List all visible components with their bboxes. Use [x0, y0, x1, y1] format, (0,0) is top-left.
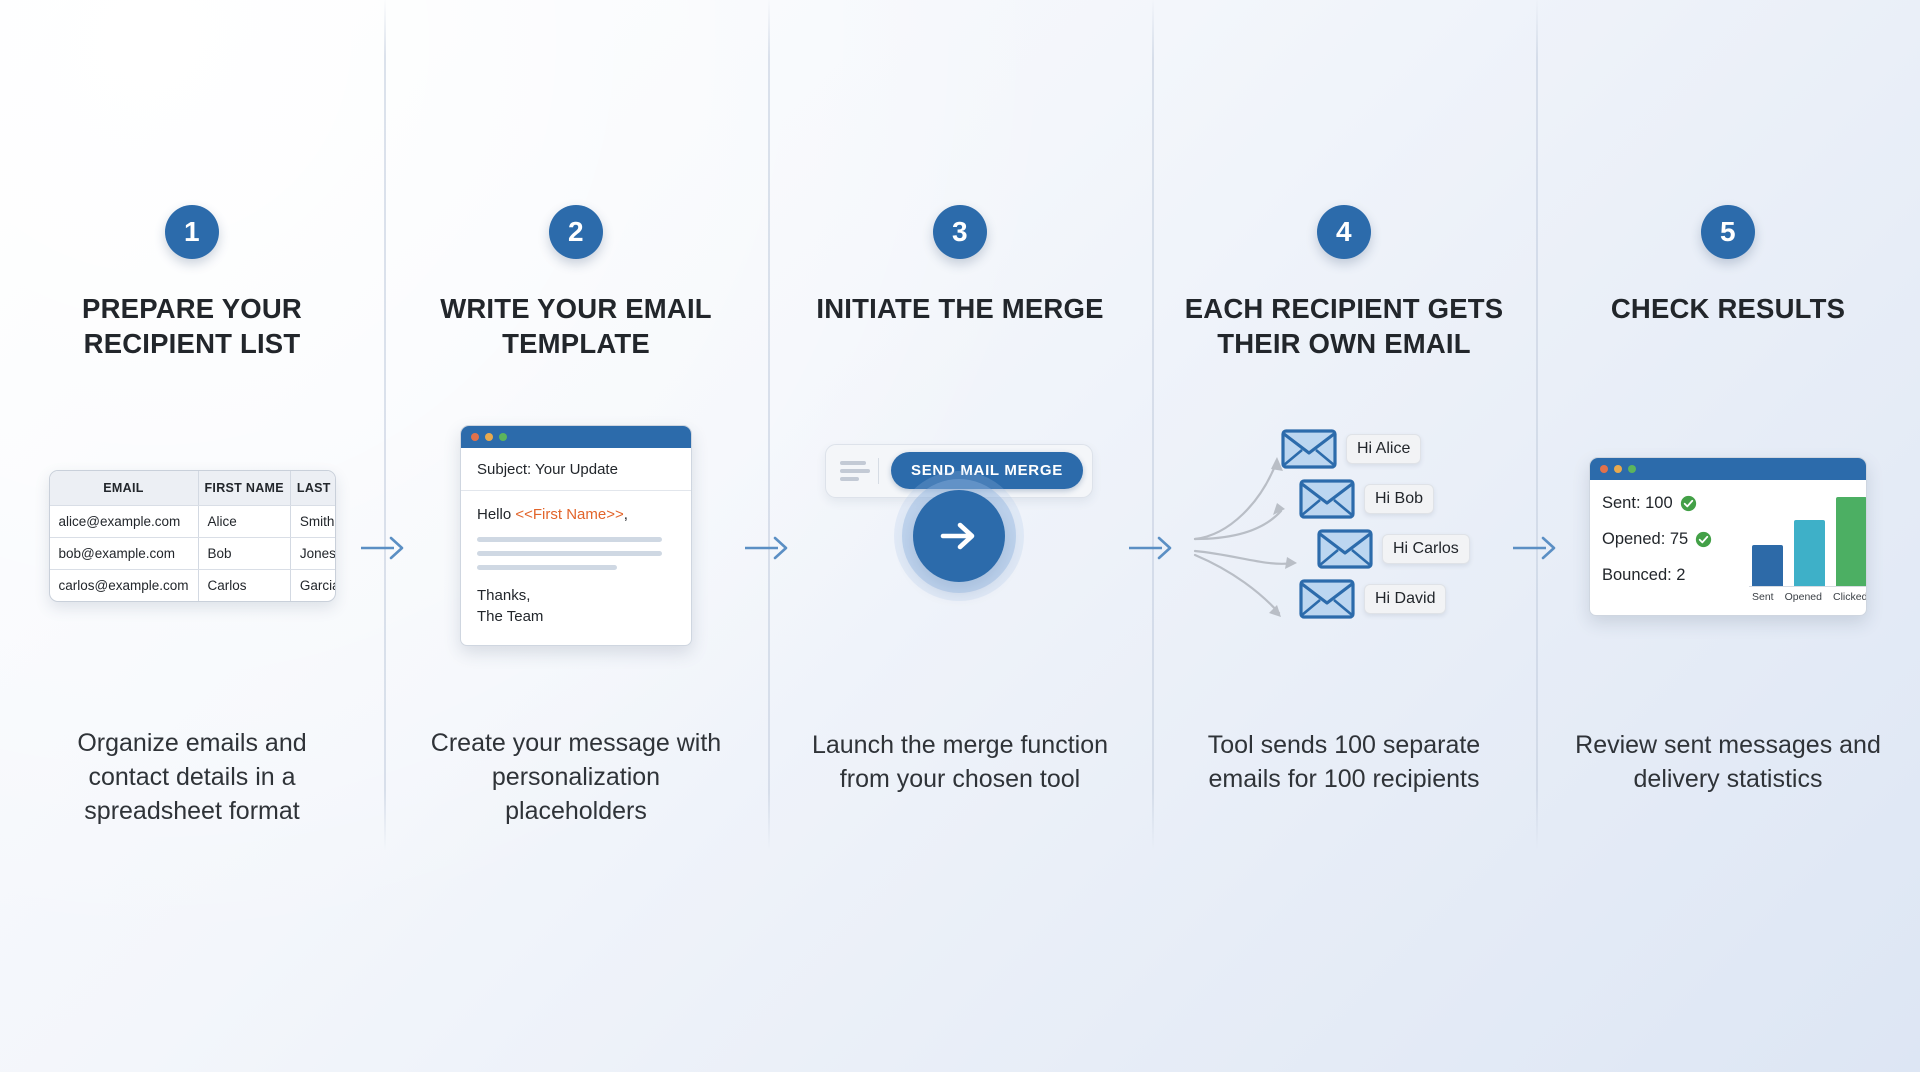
step-graphic-1: EMAIL FIRST NAME LAST NAME alice@example…	[0, 367, 384, 726]
step-badge-3: 3	[933, 205, 987, 259]
envelope-icon	[1299, 579, 1355, 619]
bar-clicked	[1836, 497, 1867, 586]
recipient-item: Hi David	[1299, 579, 1446, 619]
tick-label-opened: Opened	[1785, 591, 1822, 603]
step-caption-1: Organize emails and contact details in a…	[37, 726, 347, 828]
greeting-prefix: Hello	[477, 506, 515, 523]
step-heading-4: EACH RECIPIENT GETS THEIR OWN EMAIL	[1179, 291, 1509, 367]
cell-email: carlos@example.com	[50, 569, 199, 601]
launch-merge-button[interactable]	[913, 490, 1005, 582]
window-titlebar	[461, 426, 691, 448]
signoff-line-1: Thanks,	[477, 586, 675, 606]
step-column-4: 4 EACH RECIPIENT GETS THEIR OWN EMAIL	[1152, 0, 1536, 850]
column-header-last-name: LAST NAME	[290, 471, 335, 506]
cell-last-name: Jones	[290, 537, 335, 569]
body-placeholder-line	[477, 551, 662, 556]
step-heading-1: PREPARE YOUR RECIPIENT LIST	[27, 291, 357, 367]
step-caption-4: Tool sends 100 separate emails for 100 r…	[1189, 728, 1499, 828]
table-row: bob@example.com Bob Jones	[50, 537, 336, 569]
envelope-icon	[1281, 429, 1337, 469]
table-header-row: EMAIL FIRST NAME LAST NAME	[50, 471, 336, 506]
cell-last-name: Garcia	[290, 569, 335, 601]
step-heading-2: WRITE YOUR EMAIL TEMPLATE	[411, 291, 741, 367]
cell-last-name: Smith	[290, 505, 335, 537]
recipient-item: Hi Bob	[1299, 479, 1434, 519]
step-column-5: 5 CHECK RESULTS Sent: 100	[1536, 0, 1920, 850]
recipient-spreadsheet: EMAIL FIRST NAME LAST NAME alice@example…	[49, 470, 336, 602]
body-placeholder-line	[477, 565, 617, 570]
fanout-diagram: Hi Alice Hi Bob	[1199, 429, 1489, 644]
step-graphic-5: Sent: 100 Opened: 75	[1536, 367, 1920, 728]
step-caption-2: Create your message with personalization…	[421, 726, 731, 828]
close-dot-icon	[471, 433, 479, 441]
maximize-dot-icon	[1628, 465, 1636, 473]
email-body: Hello <<First Name>>, Thanks, The Team	[461, 491, 691, 645]
email-template-window: Subject: Your Update Hello <<First Name>…	[460, 425, 692, 646]
connector-arrow-3-to-4	[1129, 535, 1175, 561]
minimize-dot-icon	[1614, 465, 1622, 473]
recipient-bubble: Hi Bob	[1364, 484, 1434, 514]
tick-label-sent: Sent	[1752, 591, 1774, 603]
stat-label: Sent: 100	[1602, 494, 1673, 513]
step-heading-5: CHECK RESULTS	[1611, 291, 1845, 367]
toolbar-divider	[878, 458, 879, 484]
greeting-suffix: ,	[624, 506, 628, 523]
merge-token: <<First Name>>	[515, 506, 623, 523]
recipient-item: Hi Alice	[1281, 429, 1421, 469]
cell-email: bob@example.com	[50, 537, 199, 569]
stat-row-sent: Sent: 100	[1602, 494, 1724, 513]
signoff-line-2: The Team	[477, 607, 675, 627]
step-column-2: 2 WRITE YOUR EMAIL TEMPLATE Subject: You…	[384, 0, 768, 850]
minimize-dot-icon	[485, 433, 493, 441]
delivery-bar-chart: Sent Opened Clicked	[1744, 494, 1867, 603]
step-heading-3: INITIATE THE MERGE	[816, 291, 1103, 367]
stat-label: Bounced: 2	[1602, 566, 1685, 585]
send-mail-merge-button[interactable]: SEND MAIL MERGE	[891, 452, 1083, 489]
step-column-3: 3 INITIATE THE MERGE SEND MAIL MERGE Lau…	[768, 0, 1152, 850]
email-subject-line: Subject: Your Update	[461, 448, 691, 491]
chart-tick-labels: Sent Opened Clicked	[1748, 587, 1867, 603]
step-graphic-3: SEND MAIL MERGE	[768, 367, 1152, 728]
cell-first-name: Alice	[198, 505, 290, 537]
results-stats-list: Sent: 100 Opened: 75	[1602, 494, 1724, 603]
window-titlebar	[1590, 458, 1866, 480]
chart-bars	[1748, 494, 1867, 586]
step-badge-1: 1	[165, 205, 219, 259]
step-caption-5: Review sent messages and delivery statis…	[1573, 728, 1883, 828]
connector-arrow-1-to-2	[361, 535, 407, 561]
recipient-bubble: Hi Alice	[1346, 434, 1421, 464]
results-body: Sent: 100 Opened: 75	[1590, 480, 1866, 615]
mail-merge-infographic: 1 PREPARE YOUR RECIPIENT LIST EMAIL FIRS…	[0, 0, 1920, 850]
envelope-icon	[1299, 479, 1355, 519]
step-badge-4: 4	[1317, 205, 1371, 259]
stat-row-opened: Opened: 75	[1602, 530, 1724, 549]
recipient-bubble: Hi Carlos	[1382, 534, 1470, 564]
step-badge-2: 2	[549, 205, 603, 259]
table-row: alice@example.com Alice Smith	[50, 505, 336, 537]
cell-first-name: Carlos	[198, 569, 290, 601]
column-header-email: EMAIL	[50, 471, 199, 506]
email-signoff: Thanks, The Team	[477, 586, 675, 627]
step-badge-5: 5	[1701, 205, 1755, 259]
check-circle-icon	[1695, 531, 1712, 548]
stat-row-bounced: Bounced: 2	[1602, 566, 1724, 585]
step-graphic-4: Hi Alice Hi Bob	[1152, 367, 1536, 728]
email-greeting: Hello <<First Name>>,	[477, 506, 675, 523]
connector-arrow-2-to-3	[745, 535, 791, 561]
stat-label: Opened: 75	[1602, 530, 1688, 549]
check-circle-icon	[1680, 495, 1697, 512]
cell-email: alice@example.com	[50, 505, 199, 537]
cell-first-name: Bob	[198, 537, 290, 569]
arrow-right-icon	[937, 519, 981, 553]
body-placeholder-line	[477, 537, 662, 542]
results-window: Sent: 100 Opened: 75	[1589, 457, 1867, 616]
close-dot-icon	[1600, 465, 1608, 473]
bar-opened	[1794, 520, 1825, 586]
merge-control-group: SEND MAIL MERGE	[825, 432, 1095, 642]
step-caption-3: Launch the merge function from your chos…	[805, 728, 1115, 828]
envelope-icon	[1317, 529, 1373, 569]
tick-label-clicked: Clicked	[1833, 591, 1867, 603]
recipient-item: Hi Carlos	[1317, 529, 1470, 569]
table-row: carlos@example.com Carlos Garcia	[50, 569, 336, 601]
maximize-dot-icon	[499, 433, 507, 441]
column-header-first-name: FIRST NAME	[198, 471, 290, 506]
bar-sent	[1752, 545, 1783, 586]
step-column-1: 1 PREPARE YOUR RECIPIENT LIST EMAIL FIRS…	[0, 0, 384, 850]
menu-lines-icon	[826, 461, 878, 481]
connector-arrow-4-to-5	[1513, 535, 1559, 561]
step-graphic-2: Subject: Your Update Hello <<First Name>…	[384, 367, 768, 726]
recipient-bubble: Hi David	[1364, 584, 1446, 614]
